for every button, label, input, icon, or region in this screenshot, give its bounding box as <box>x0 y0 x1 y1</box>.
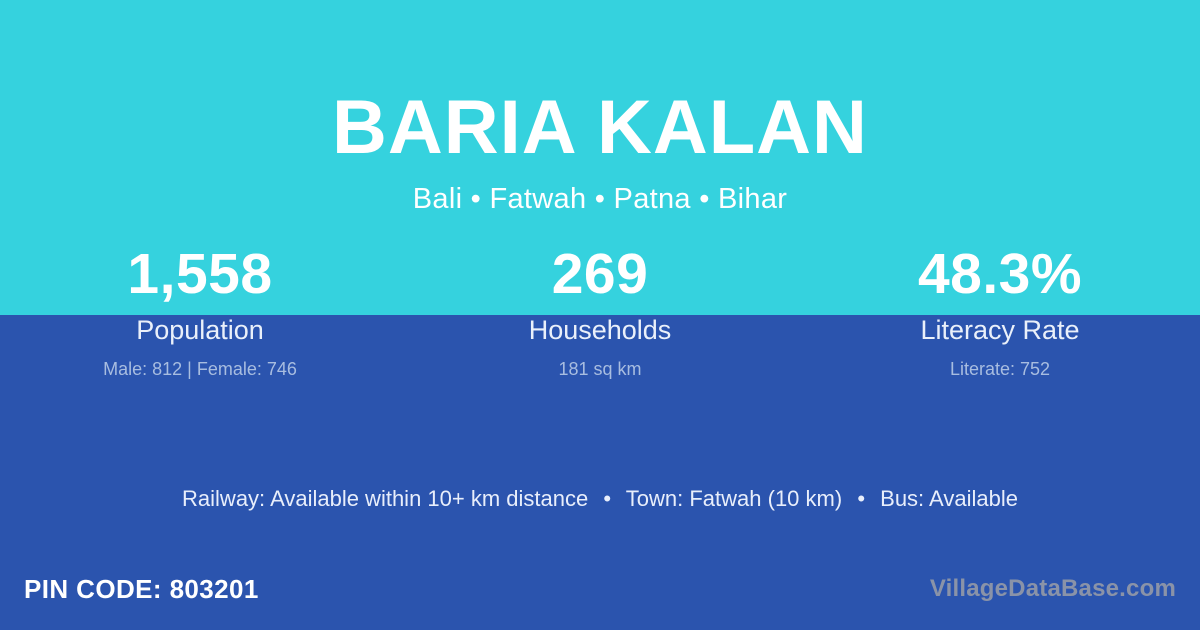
stat-population: 1,558 Population Male: 812 | Female: 746 <box>0 243 400 381</box>
stat-value: 269 <box>400 243 800 305</box>
card-footer: PIN CODE: 803201 VillageDataBase.com <box>0 570 1200 612</box>
village-title: BARIA KALAN <box>0 90 1200 166</box>
stat-households: 269 Households 181 sq km <box>400 243 800 381</box>
village-info-card: BARIA KALAN Bali • Fatwah • Patna • Biha… <box>0 0 1200 630</box>
stat-label: Households <box>400 313 800 347</box>
brand-watermark: VillageDataBase.com <box>930 570 1176 608</box>
railway-info: Railway: Available within 10+ km distanc… <box>182 486 588 511</box>
transport-info-line: Railway: Available within 10+ km distanc… <box>0 483 1200 515</box>
stat-value: 48.3% <box>800 243 1200 305</box>
bullet-separator-icon: • <box>594 483 620 515</box>
pin-code: PIN CODE: 803201 <box>24 570 259 608</box>
stat-sublabel: Male: 812 | Female: 746 <box>0 357 400 381</box>
stats-row: 1,558 Population Male: 812 | Female: 746… <box>0 243 1200 381</box>
stat-sublabel: 181 sq km <box>400 357 800 381</box>
bus-info: Bus: Available <box>880 486 1018 511</box>
stat-label: Population <box>0 313 400 347</box>
stat-literacy-rate: 48.3% Literacy Rate Literate: 752 <box>800 243 1200 381</box>
town-info: Town: Fatwah (10 km) <box>626 486 842 511</box>
village-location-breadcrumb: Bali • Fatwah • Patna • Bihar <box>0 182 1200 217</box>
stat-label: Literacy Rate <box>800 313 1200 347</box>
bullet-separator-icon: • <box>848 483 874 515</box>
stat-value: 1,558 <box>0 243 400 305</box>
stat-sublabel: Literate: 752 <box>800 357 1200 381</box>
